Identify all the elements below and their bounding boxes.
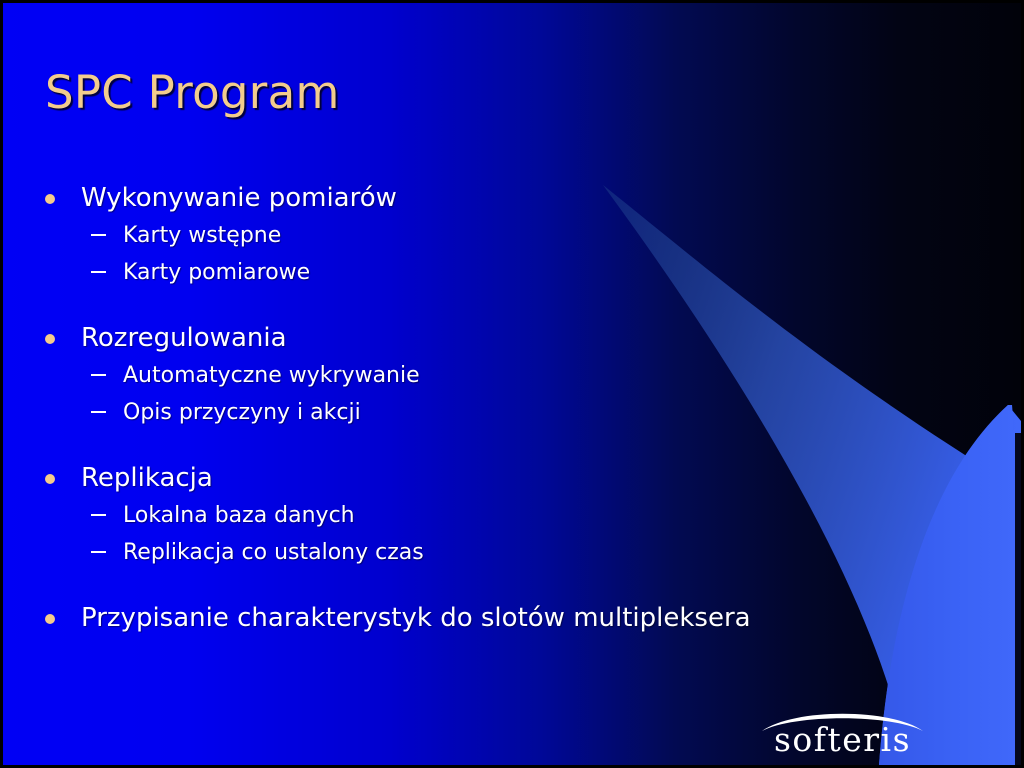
bullet-label: Wykonywanie pomiarów [81, 183, 397, 213]
bullet-item-level2: Karty pomiarowe [3, 254, 1021, 291]
bullet-label: Rozregulowania [81, 323, 287, 353]
slide-title: SPC Program [45, 66, 340, 119]
bullet-item-level1: Wykonywanie pomiarów [3, 179, 1021, 217]
bullet-dot-icon [45, 194, 55, 204]
bullet-label: Lokalna baza danych [123, 503, 355, 528]
bullet-item-level2: Karty wstępne [3, 217, 1021, 254]
bullet-item-level1: Replikacja [3, 459, 1021, 497]
bullet-label: Opis przyczyny i akcji [123, 400, 361, 425]
bullet-item-level1: Rozregulowania [3, 319, 1021, 357]
bullet-dash-icon [91, 271, 106, 273]
bullet-dash-icon [91, 234, 106, 236]
bullet-dot-icon [45, 334, 55, 344]
bullet-label: Replikacja [81, 463, 213, 493]
bullet-label: Przypisanie charakterystyk do slotów mul… [81, 603, 751, 633]
bullet-item-level2: Automatyczne wykrywanie [3, 357, 1021, 394]
bullet-label: Replikacja co ustalony czas [123, 540, 424, 565]
bullet-group: Rozregulowania Automatyczne wykrywanie O… [3, 319, 1021, 431]
bullet-item-level1: Przypisanie charakterystyk do slotów mul… [3, 599, 1021, 637]
slide-body-content: Wykonywanie pomiarów Karty wstępne Karty… [3, 179, 1021, 637]
bullet-item-level2: Opis przyczyny i akcji [3, 394, 1021, 431]
softeris-logo: softeris [760, 706, 925, 762]
bullet-dot-icon [45, 614, 55, 624]
presentation-slide: SPC Program Wykonywanie pomiarów Karty w… [0, 0, 1024, 768]
logo-wordmark: softeris [760, 720, 925, 759]
bullet-label: Karty pomiarowe [123, 260, 310, 285]
bullet-group: Replikacja Lokalna baza danych Replikacj… [3, 459, 1021, 571]
bullet-dash-icon [91, 374, 106, 376]
bullet-item-level2: Replikacja co ustalony czas [3, 534, 1021, 571]
bullet-group: Przypisanie charakterystyk do slotów mul… [3, 599, 1021, 637]
bullet-group: Wykonywanie pomiarów Karty wstępne Karty… [3, 179, 1021, 291]
bullet-dash-icon [91, 551, 106, 553]
bullet-label: Automatyczne wykrywanie [123, 363, 420, 388]
slide-canvas: SPC Program Wykonywanie pomiarów Karty w… [3, 3, 1021, 765]
bullet-dot-icon [45, 474, 55, 484]
bullet-dash-icon [91, 514, 106, 516]
bullet-item-level2: Lokalna baza danych [3, 497, 1021, 534]
bullet-label: Karty wstępne [123, 223, 281, 248]
bullet-dash-icon [91, 411, 106, 413]
